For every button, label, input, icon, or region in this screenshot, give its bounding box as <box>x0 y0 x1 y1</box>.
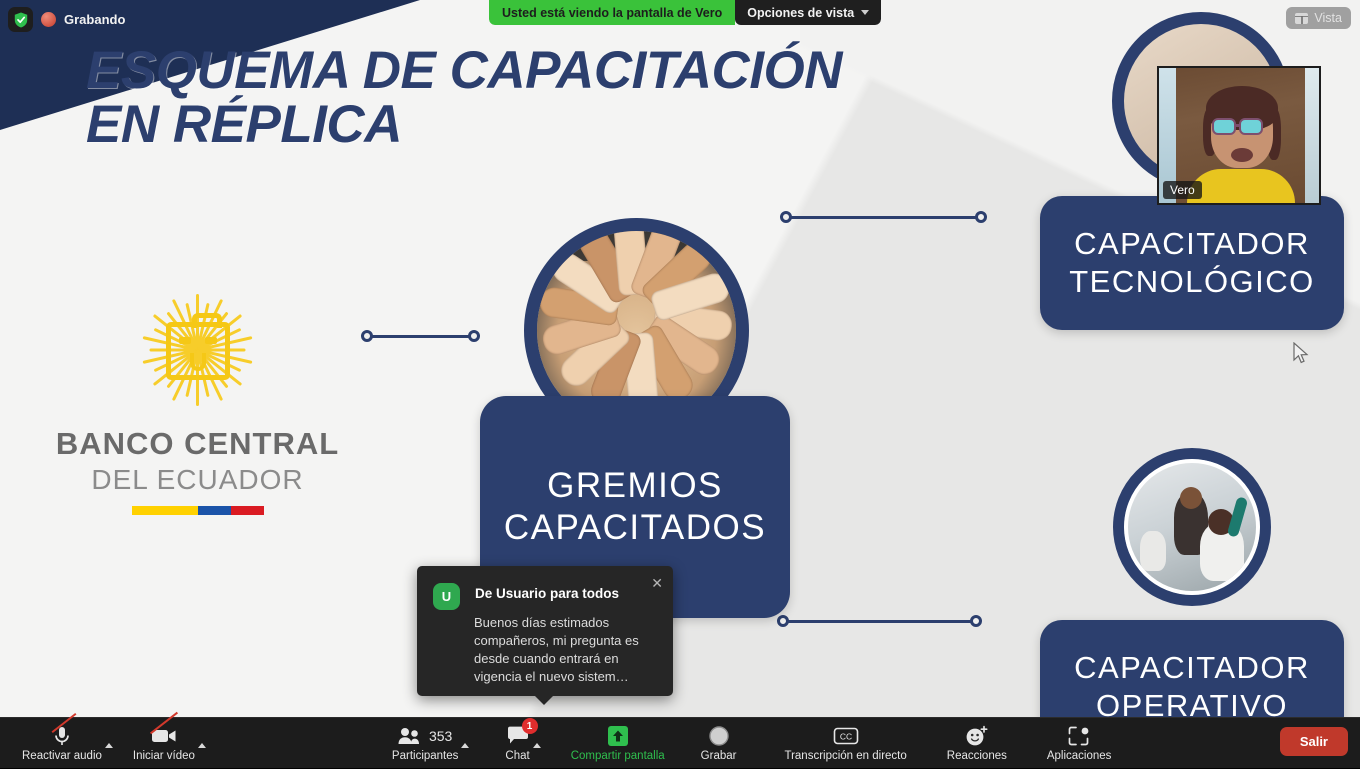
camera-off-icon <box>151 724 177 747</box>
participants-label: Participantes <box>392 750 458 762</box>
video-options-caret-icon[interactable] <box>198 743 206 748</box>
view-layout-button[interactable]: Vista <box>1286 7 1351 29</box>
apps-icon <box>1068 724 1090 747</box>
node-capacitador-tecnologico: CAPACITADOR TECNOLÓGICO <box>1040 196 1344 330</box>
apps-button[interactable]: Aplicaciones <box>1047 718 1112 769</box>
node-capacitador-operativo: CAPACITADOR OPERATIVO <box>1040 620 1344 717</box>
reactions-label: Reacciones <box>947 750 1007 762</box>
ecuador-flag-stripes <box>132 506 264 515</box>
record-circle-icon <box>708 724 730 747</box>
connector-top-right <box>780 211 987 223</box>
node-gremios-label-1: GREMIOS <box>504 465 766 507</box>
logo-name-line-2: DEL ECUADOR <box>30 464 365 496</box>
chevron-down-icon <box>861 10 869 15</box>
start-video-button[interactable]: Iniciar vídeo <box>133 718 195 769</box>
connector-bottom-right <box>777 615 982 627</box>
chat-unread-badge: 1 <box>522 718 538 734</box>
node-gremios-label-2: CAPACITADOS <box>504 507 766 549</box>
chat-button[interactable]: 1 Chat <box>505 718 529 769</box>
ecuador-sun-icon <box>133 288 263 416</box>
glasses-left <box>1212 118 1236 135</box>
share-screen-icon <box>606 724 630 747</box>
glasses-right <box>1239 118 1263 135</box>
sun-eye-right <box>205 337 217 344</box>
svg-text:CC: CC <box>839 731 851 741</box>
chat-toast-message: Buenos días estimados compañeros, mi pre… <box>474 614 661 686</box>
self-video-thumbnail[interactable]: Vero <box>1157 66 1321 205</box>
view-button-label: Vista <box>1314 11 1342 25</box>
shared-screen-content: ESQUEMA DE CAPACITACIÓN EN RÉPLICA BANCO… <box>0 0 1360 717</box>
view-options-button[interactable]: Opciones de vista <box>735 0 881 25</box>
participants-button[interactable]: 353 Participantes <box>392 718 458 769</box>
live-transcript-label: Transcripción en directo <box>784 750 906 762</box>
smiley-plus-icon <box>965 724 989 747</box>
banco-central-logo: BANCO CENTRAL DEL ECUADOR <box>30 288 365 515</box>
people-icon: 353 <box>398 724 452 747</box>
view-options-label: Opciones de vista <box>747 6 854 20</box>
sun-eye-left <box>179 337 191 344</box>
node-ope-label-1: CAPACITADOR <box>1074 649 1310 687</box>
apps-label: Aplicaciones <box>1047 750 1112 762</box>
grid-view-icon <box>1295 13 1308 24</box>
unmute-audio-button[interactable]: Reactivar audio <box>22 718 102 769</box>
microphone-muted-icon <box>52 724 72 747</box>
record-label: Grabar <box>701 750 737 762</box>
record-dot-icon <box>41 12 56 27</box>
live-transcript-button[interactable]: CC Transcripción en directo <box>784 718 906 769</box>
audio-options-caret-icon[interactable] <box>105 743 113 748</box>
sun-mouth <box>190 353 206 371</box>
node-tec-label-2: TECNOLÓGICO <box>1069 263 1315 301</box>
page-title: ESQUEMA DE CAPACITACIÓN EN RÉPLICA <box>86 44 842 152</box>
sun-face <box>166 322 230 380</box>
meeting-toolbar: Reactivar audio Iniciar vídeo 353 Partic… <box>0 717 1360 768</box>
connector-left <box>361 330 480 342</box>
logo-name-line-1: BANCO CENTRAL <box>30 426 365 462</box>
share-status-banner: Usted está viendo la pantalla de Vero Op… <box>489 0 881 25</box>
unmute-audio-label: Reactivar audio <box>22 750 102 762</box>
recording-label: Grabando <box>64 12 125 27</box>
reactions-button[interactable]: Reacciones <box>947 718 1007 769</box>
mouse-cursor <box>1292 342 1310 366</box>
node-tec-label-1: CAPACITADOR <box>1069 225 1315 263</box>
slide-title-line-2: EN RÉPLICA <box>86 98 842 152</box>
participant-name-label: Vero <box>1163 181 1202 199</box>
share-status-text: Usted está viendo la pantalla de Vero <box>489 0 735 25</box>
start-video-label: Iniciar vídeo <box>133 750 195 762</box>
cc-icon: CC <box>833 724 859 747</box>
shield-check-icon <box>8 7 33 32</box>
record-button[interactable]: Grabar <box>701 718 737 769</box>
chat-toast-title: De Usuario para todos <box>475 586 619 601</box>
classroom-photo <box>1113 448 1271 606</box>
chat-bubble-icon: 1 <box>507 724 529 747</box>
participants-count: 353 <box>429 728 452 744</box>
share-screen-button[interactable]: Compartir pantalla <box>571 718 665 769</box>
node-ope-label-2: OPERATIVO <box>1074 687 1310 717</box>
classroom-photo-inner <box>1124 459 1260 595</box>
recording-indicator[interactable]: Grabando <box>8 7 125 32</box>
chat-label: Chat <box>505 750 529 762</box>
share-screen-label: Compartir pantalla <box>571 750 665 762</box>
participants-caret-icon[interactable] <box>461 743 469 748</box>
chat-notification-toast[interactable]: U De Usuario para todos Buenos días esti… <box>417 566 673 696</box>
avatar: U <box>433 583 460 610</box>
slide-title-line-1: ESQUEMA DE CAPACITACIÓN <box>86 44 842 98</box>
chat-caret-icon[interactable] <box>533 743 541 748</box>
close-icon[interactable]: ✕ <box>651 575 663 592</box>
leave-meeting-button[interactable]: Salir <box>1280 727 1348 756</box>
